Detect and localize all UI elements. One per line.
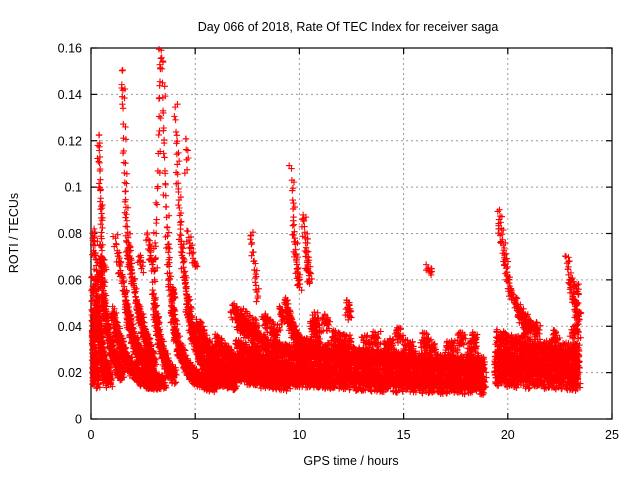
x-tick-label: 25 [605, 428, 619, 442]
x-tick-label: 10 [292, 428, 306, 442]
y-tick-label: 0.08 [58, 227, 82, 241]
y-tick-label: 0 [75, 413, 82, 427]
x-tick-label: 5 [192, 428, 199, 442]
x-axis-label: GPS time / hours [303, 454, 398, 468]
y-tick-label: 0.06 [58, 273, 82, 287]
y-tick-label: 0.02 [58, 366, 82, 380]
chart-title: Day 066 of 2018, Rate Of TEC Index for r… [198, 20, 499, 34]
x-tick-label: 0 [88, 428, 95, 442]
plot-figure: Day 066 of 2018, Rate Of TEC Index for r… [0, 0, 640, 480]
y-tick-label: 0.16 [58, 42, 82, 56]
y-tick-labels: 00.020.040.060.080.10.120.140.16 [58, 42, 82, 427]
canvas-background [0, 0, 640, 480]
x-tick-label: 15 [397, 428, 411, 442]
y-tick-label: 0.04 [58, 320, 82, 334]
x-tick-label: 20 [501, 428, 515, 442]
plot-svg: Day 066 of 2018, Rate Of TEC Index for r… [0, 0, 640, 480]
y-axis-label: ROTI / TECUs [7, 193, 21, 273]
y-tick-label: 0.14 [58, 88, 82, 102]
y-tick-label: 0.1 [65, 181, 82, 195]
y-tick-label: 0.12 [58, 134, 82, 148]
